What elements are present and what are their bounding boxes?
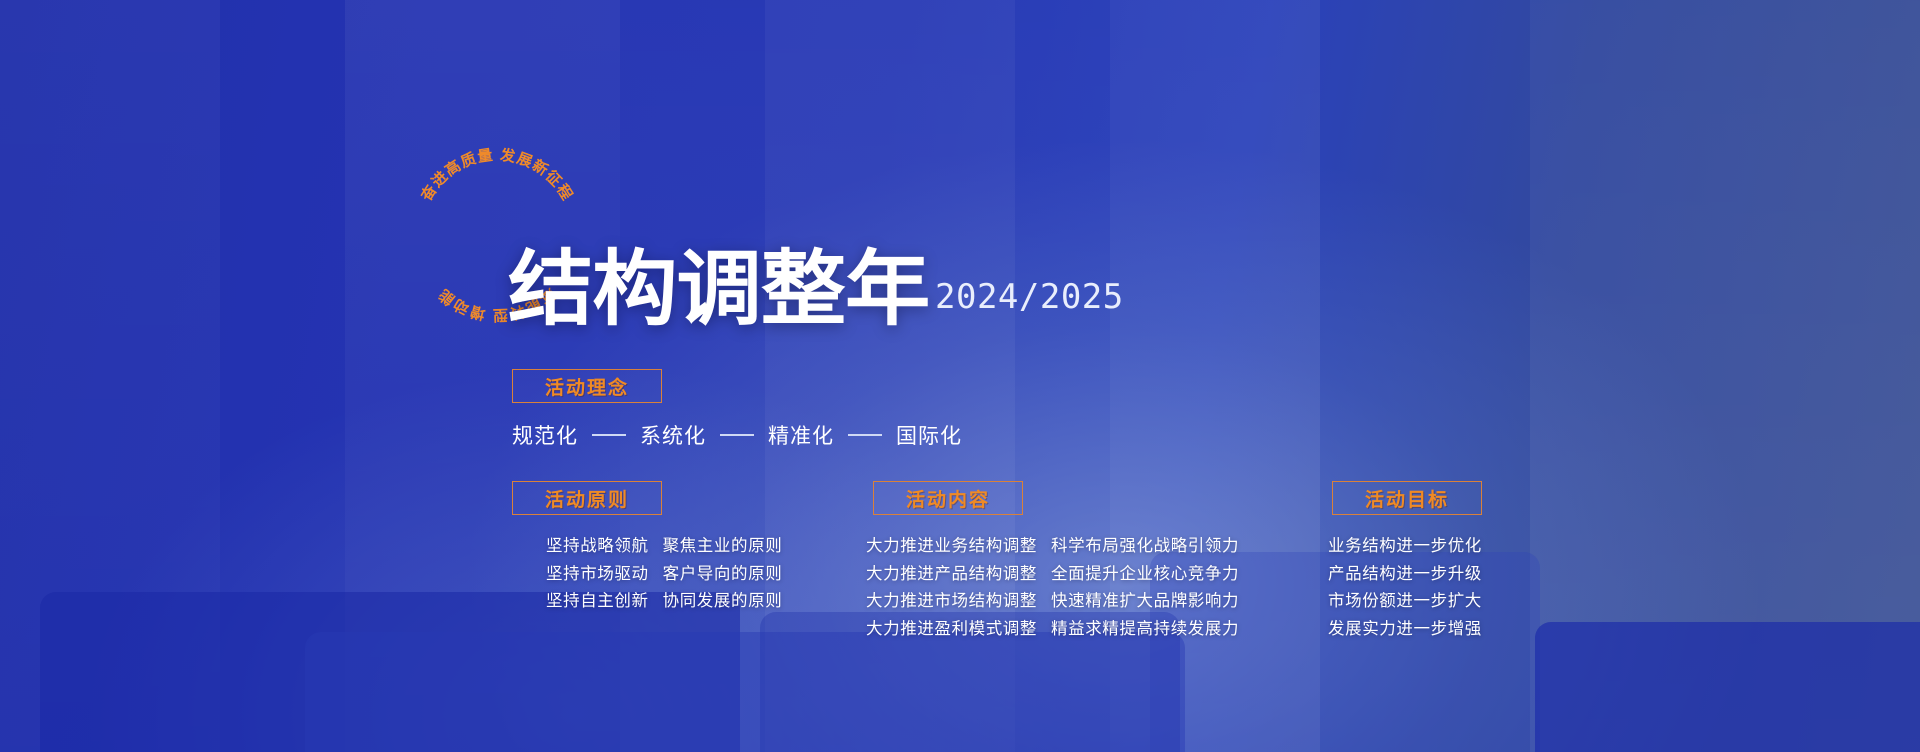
badge-activity-idea: 活动理念 bbox=[512, 369, 662, 403]
seal-top-text: 奋进高质量 发展新征程 bbox=[417, 146, 576, 205]
list-item-primary: 产品结构进一步升级 bbox=[1328, 566, 1482, 583]
list-item-secondary: 全面提升企业核心竞争力 bbox=[1051, 566, 1239, 583]
badge-activity-content-label: 活动内容 bbox=[906, 485, 990, 512]
badge-activity-goal: 活动目标 bbox=[1332, 481, 1482, 515]
idea-keyword: 精准化 bbox=[768, 420, 834, 450]
list-item: 发展实力进一步增强 bbox=[1328, 621, 1482, 638]
list-item-secondary: 精益求精提高持续发展力 bbox=[1051, 621, 1239, 638]
column-activity-principle: 坚持战略领航聚焦主业的原则坚持市场驱动客户导向的原则坚持自主创新协同发展的原则 bbox=[546, 538, 782, 621]
list-item-secondary: 科学布局强化战略引领力 bbox=[1051, 538, 1239, 555]
badge-activity-goal-label: 活动目标 bbox=[1365, 485, 1449, 512]
idea-keyword-row: 规范化系统化精准化国际化 bbox=[512, 420, 962, 450]
list-item: 大力推进业务结构调整科学布局强化战略引领力 bbox=[866, 538, 1239, 555]
bg-block-2 bbox=[305, 632, 1185, 752]
idea-separator bbox=[720, 434, 754, 436]
list-item-primary: 发展实力进一步增强 bbox=[1328, 621, 1482, 638]
badge-activity-principle-label: 活动原则 bbox=[545, 485, 629, 512]
headline: 结构调整年 2024/2025 bbox=[508, 252, 1124, 327]
list-item-secondary: 协同发展的原则 bbox=[663, 593, 783, 610]
list-item-primary: 坚持战略领航 bbox=[546, 538, 649, 555]
list-item: 坚持市场驱动客户导向的原则 bbox=[546, 566, 782, 583]
column-activity-goal: 业务结构进一步优化产品结构进一步升级市场份额进一步扩大发展实力进一步增强 bbox=[1328, 538, 1482, 648]
badge-activity-idea-label: 活动理念 bbox=[545, 373, 629, 400]
banner-root: 奋进高质量 发展新征程 赋能转型 增动能 结构调整年 2024/2025 活动理… bbox=[0, 0, 1920, 752]
list-item-secondary: 聚焦主业的原则 bbox=[663, 538, 783, 555]
list-item: 坚持自主创新协同发展的原则 bbox=[546, 593, 782, 610]
list-item: 大力推进市场结构调整快速精准扩大品牌影响力 bbox=[866, 593, 1239, 610]
headline-year: 2024/2025 bbox=[935, 277, 1124, 317]
badge-activity-principle: 活动原则 bbox=[512, 481, 662, 515]
bg-block-4 bbox=[1535, 622, 1920, 752]
list-item: 大力推进产品结构调整全面提升企业核心竞争力 bbox=[866, 566, 1239, 583]
idea-separator bbox=[848, 434, 882, 436]
list-item-primary: 坚持自主创新 bbox=[546, 593, 649, 610]
idea-separator bbox=[592, 434, 626, 436]
seal-top-tspan: 奋进高质量 发展新征程 bbox=[417, 146, 576, 205]
list-item-secondary: 快速精准扩大品牌影响力 bbox=[1051, 593, 1239, 610]
list-item: 业务结构进一步优化 bbox=[1328, 538, 1482, 555]
list-item-primary: 坚持市场驱动 bbox=[546, 566, 649, 583]
list-item-primary: 大力推进产品结构调整 bbox=[866, 566, 1037, 583]
bg-band-1 bbox=[0, 0, 220, 752]
list-item-primary: 大力推进业务结构调整 bbox=[866, 538, 1037, 555]
bg-band-7 bbox=[1530, 0, 1920, 752]
page-title: 结构调整年 bbox=[508, 252, 929, 327]
list-item-primary: 市场份额进一步扩大 bbox=[1328, 593, 1482, 610]
column-activity-content: 大力推进业务结构调整科学布局强化战略引领力大力推进产品结构调整全面提升企业核心竞… bbox=[866, 538, 1239, 648]
badge-activity-content: 活动内容 bbox=[873, 481, 1023, 515]
list-item: 大力推进盈利模式调整精益求精提高持续发展力 bbox=[866, 621, 1239, 638]
list-item-primary: 业务结构进一步优化 bbox=[1328, 538, 1482, 555]
idea-keyword: 国际化 bbox=[896, 420, 962, 450]
list-item: 坚持战略领航聚焦主业的原则 bbox=[546, 538, 782, 555]
list-item-secondary: 客户导向的原则 bbox=[663, 566, 783, 583]
list-item-primary: 大力推进市场结构调整 bbox=[866, 593, 1037, 610]
idea-keyword: 规范化 bbox=[512, 420, 578, 450]
idea-keyword: 系统化 bbox=[640, 420, 706, 450]
list-item: 产品结构进一步升级 bbox=[1328, 566, 1482, 583]
list-item-primary: 大力推进盈利模式调整 bbox=[866, 621, 1037, 638]
list-item: 市场份额进一步扩大 bbox=[1328, 593, 1482, 610]
